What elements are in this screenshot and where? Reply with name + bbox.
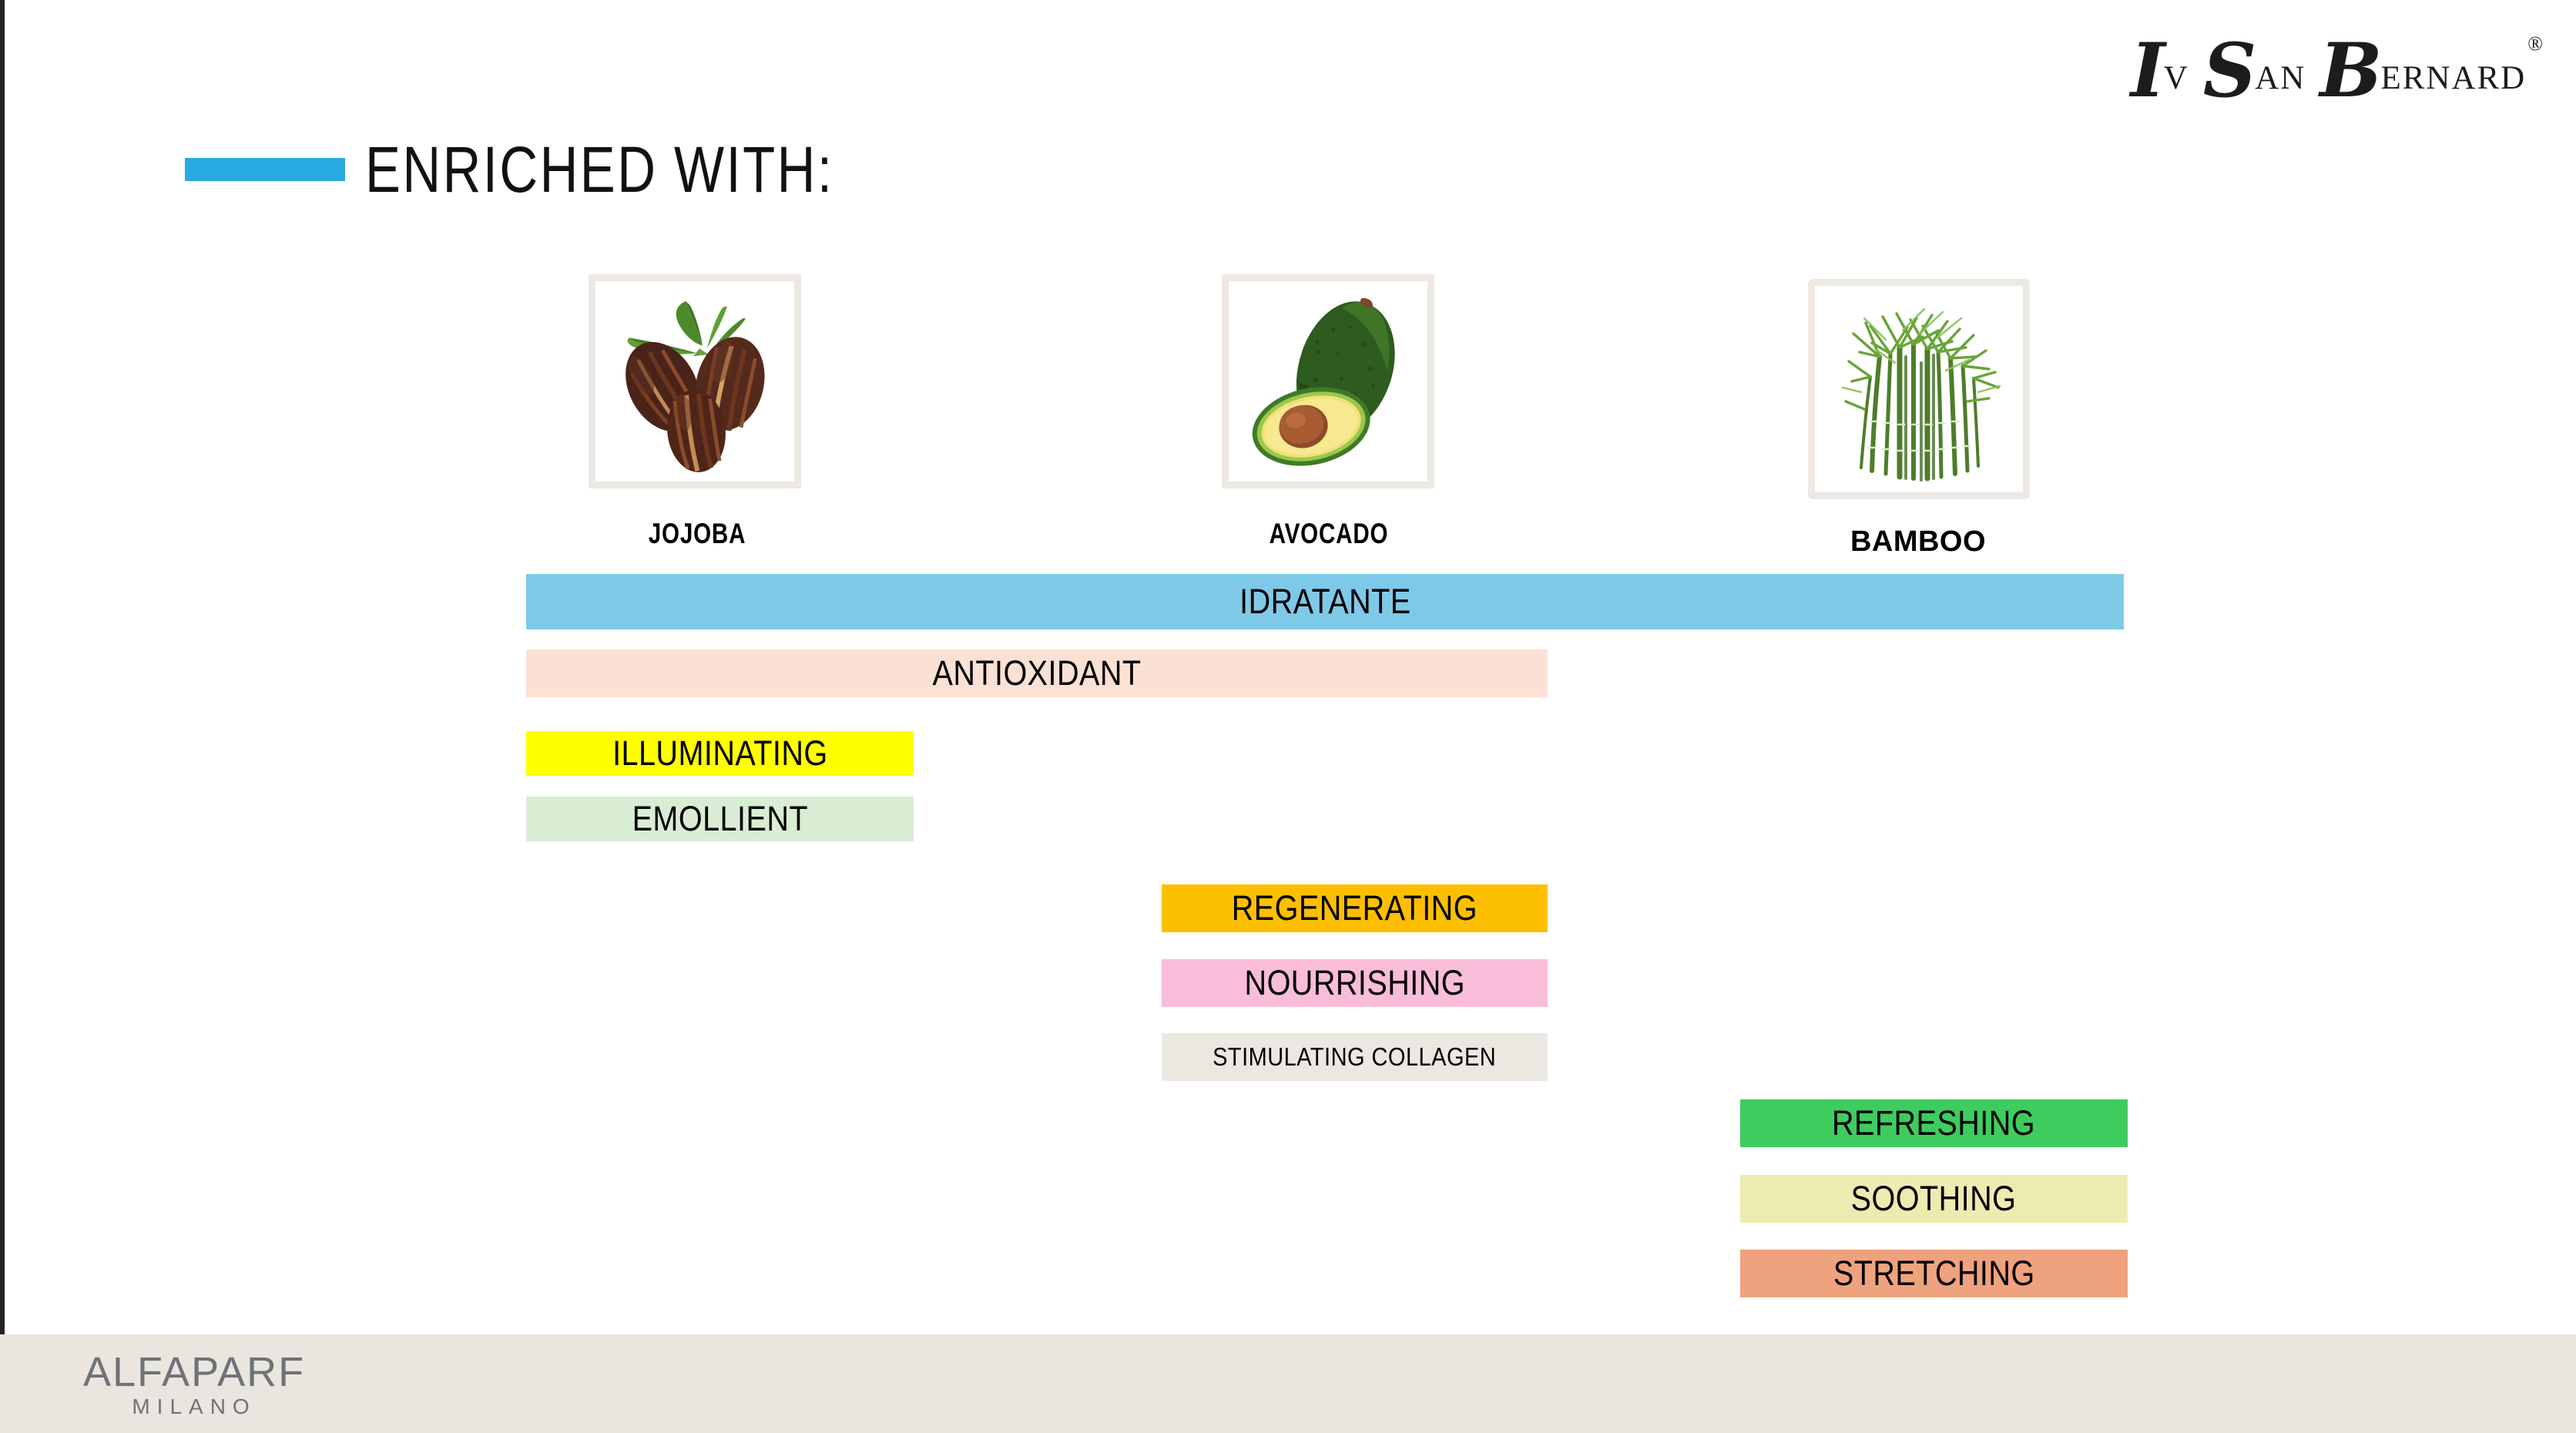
logo-word-iv: v: [2164, 47, 2189, 99]
footer-band: ALFAPARF MILANO: [0, 1334, 2576, 1433]
logo-word-san: an: [2255, 47, 2306, 99]
benefit-bar-nourishing: NOURRISHING: [1162, 959, 1548, 1007]
logo-word-bernard: ernard: [2380, 47, 2526, 99]
footer-logo-main: ALFAPARF: [83, 1351, 305, 1393]
registered-mark-icon: ®: [2527, 32, 2544, 55]
title-accent-bar: [185, 158, 345, 181]
benefit-label-idratante: IDRATANTE: [1239, 584, 1411, 619]
jojoba-photo: [595, 281, 794, 482]
avocado-icon: [1229, 281, 1427, 482]
benefit-label-soothing: SOOTHING: [1851, 1181, 2017, 1217]
ingredient-label-avocado: AVOCADO: [1239, 518, 1418, 550]
ingredient-label-jojoba: JOJOBA: [608, 518, 787, 550]
benefit-label-antioxidant: ANTIOXIDANT: [932, 656, 1141, 691]
avocado-photo: [1229, 281, 1427, 482]
page-title: ENRICHED WITH:: [365, 133, 834, 207]
ingredient-card-jojoba: [589, 274, 801, 488]
benefit-label-stimulating-collagen: STIMULATING COLLAGEN: [1213, 1044, 1496, 1070]
benefit-label-refreshing: REFRESHING: [1832, 1106, 2035, 1141]
benefit-bar-regenerating: REGENERATING: [1162, 884, 1548, 932]
left-edge-strip: [0, 0, 5, 1433]
benefit-bar-emollient: EMOLLIENT: [526, 797, 914, 841]
benefit-label-emollient: EMOLLIENT: [632, 801, 807, 837]
bamboo-icon: [1815, 286, 2023, 492]
benefit-bar-antioxidant: ANTIOXIDANT: [526, 649, 1548, 697]
benefit-label-regenerating: REGENERATING: [1232, 891, 1478, 926]
benefit-bar-idratante: IDRATANTE: [526, 574, 2124, 629]
logo-letter-b: B: [2319, 27, 2380, 114]
benefit-label-illuminating: ILLUMINATING: [612, 736, 828, 771]
benefit-bar-soothing: SOOTHING: [1740, 1175, 2128, 1223]
benefit-label-nourishing: NOURRISHING: [1244, 965, 1464, 1001]
ingredient-card-avocado: [1222, 274, 1434, 488]
bamboo-photo: [1815, 286, 2023, 492]
benefit-label-stretching: STRETCHING: [1833, 1256, 2035, 1291]
benefit-bar-illuminating: ILLUMINATING: [526, 731, 914, 776]
jojoba-seeds-icon: [595, 281, 794, 482]
iv-san-bernard-logo: Iv San Bernard®: [2131, 26, 2542, 100]
alfaparf-milano-logo: ALFAPARF MILANO: [83, 1351, 305, 1418]
page-title-row: ENRICHED WITH:: [185, 137, 937, 202]
logo-letter-i: I: [2131, 27, 2164, 114]
slide-canvas: Iv San Bernard® ENRICHED WITH:: [0, 0, 2576, 1433]
benefit-bar-refreshing: REFRESHING: [1740, 1099, 2128, 1147]
ingredient-label-bamboo: BAMBOO: [1806, 525, 2030, 559]
benefit-bar-stimulating-collagen: STIMULATING COLLAGEN: [1162, 1033, 1548, 1081]
benefit-bar-stretching: STRETCHING: [1740, 1250, 2128, 1297]
ingredient-card-bamboo: [1808, 279, 2030, 499]
footer-logo-sub: MILANO: [83, 1396, 305, 1418]
logo-letter-s: S: [2203, 27, 2255, 114]
